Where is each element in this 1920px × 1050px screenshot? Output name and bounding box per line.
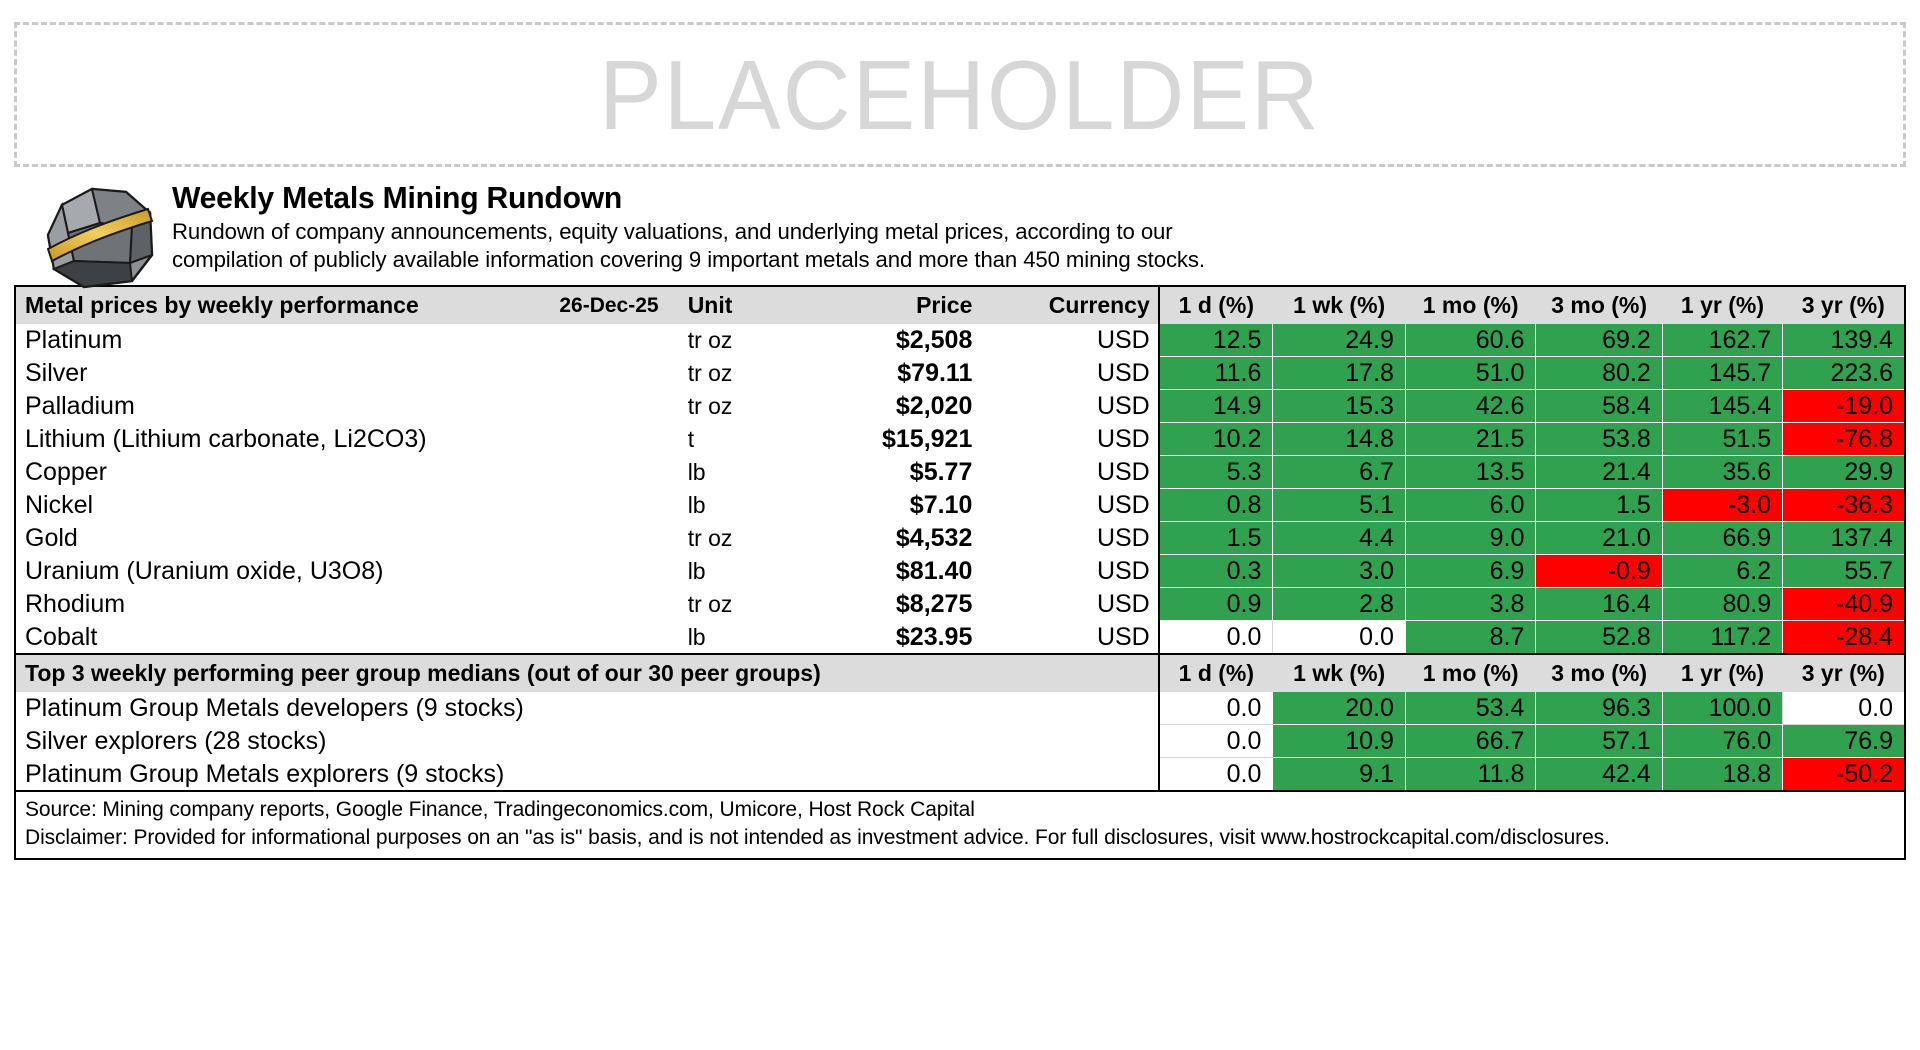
column-header-pct-0: 1 d (%) [1159, 286, 1273, 324]
metal-pct-3: 69.2 [1536, 324, 1662, 357]
metal-currency: USD [980, 456, 1158, 489]
page-subtitle-line-2: compilation of publicly available inform… [172, 246, 1880, 273]
peer-pct-4: 76.0 [1662, 725, 1782, 758]
table-row: Nickellb$7.10USD0.85.16.01.5-3.0-36.3 [15, 489, 1905, 522]
table-row: Copperlb$5.77USD5.36.713.521.435.629.9 [15, 456, 1905, 489]
metal-pct-2: 6.9 [1405, 555, 1535, 588]
spacer-cell [559, 456, 681, 489]
table-row: Palladiumtr oz$2,020USD14.915.342.658.41… [15, 390, 1905, 423]
metal-name: Rhodium [15, 588, 559, 621]
table-row: Platinumtr oz$2,508USD12.524.960.669.216… [15, 324, 1905, 357]
metal-pct-4: 117.2 [1662, 621, 1782, 655]
metal-currency: USD [980, 357, 1158, 390]
metal-pct-1: 3.0 [1273, 555, 1406, 588]
metal-pct-3: -0.9 [1536, 555, 1662, 588]
metal-pct-3: 1.5 [1536, 489, 1662, 522]
peer-pct-3: 57.1 [1536, 725, 1662, 758]
metals-section-header-row: Metal prices by weekly performance26-Dec… [15, 286, 1905, 324]
metal-pct-2: 13.5 [1405, 456, 1535, 489]
peer-pct-0: 0.0 [1159, 758, 1273, 792]
metal-pct-3: 52.8 [1536, 621, 1662, 655]
metal-pct-1: 2.8 [1273, 588, 1406, 621]
peer-section-header-row: Top 3 weekly performing peer group media… [15, 654, 1905, 692]
metal-currency: USD [980, 489, 1158, 522]
metal-price: $7.10 [771, 489, 980, 522]
metal-pct-1: 14.8 [1273, 423, 1406, 456]
table-row: Platinum Group Metals explorers (9 stock… [15, 758, 1905, 792]
logo-wrap [40, 179, 172, 296]
metal-pct-1: 5.1 [1273, 489, 1406, 522]
placeholder-label: PLACEHOLDER [599, 46, 1321, 144]
metal-pct-2: 21.5 [1405, 423, 1535, 456]
column-header-unit: Unit [682, 286, 772, 324]
metal-pct-1: 17.8 [1273, 357, 1406, 390]
metal-pct-0: 5.3 [1159, 456, 1273, 489]
peer-pct-4: 18.8 [1662, 758, 1782, 792]
metal-unit: tr oz [682, 324, 772, 357]
page-subtitle-line-1: Rundown of company announcements, equity… [172, 218, 1880, 245]
footer-source: Source: Mining company reports, Google F… [25, 796, 1904, 824]
column-header-pct-1: 1 wk (%) [1273, 286, 1406, 324]
metal-pct-0: 1.5 [1159, 522, 1273, 555]
spacer-cell [559, 423, 681, 456]
spacer-cell [559, 522, 681, 555]
metal-currency: USD [980, 324, 1158, 357]
title-text-wrap: Weekly Metals Mining Rundown Rundown of … [172, 179, 1906, 273]
metal-pct-5: 139.4 [1783, 324, 1905, 357]
spacer-cell [559, 390, 681, 423]
metal-currency: USD [980, 423, 1158, 456]
peer-pct-0: 0.0 [1159, 692, 1273, 725]
column-header-pct-4: 1 yr (%) [1662, 286, 1782, 324]
report-date: 26-Dec-25 [559, 286, 681, 324]
metal-pct-4: 66.9 [1662, 522, 1782, 555]
metal-name: Copper [15, 456, 559, 489]
table-row: Goldtr oz$4,532USD1.54.49.021.066.9137.4 [15, 522, 1905, 555]
rock-with-gold-vein-icon [40, 183, 158, 291]
report-header: Weekly Metals Mining Rundown Rundown of … [40, 179, 1906, 279]
peer-pct-2: 66.7 [1405, 725, 1535, 758]
metal-pct-4: 80.9 [1662, 588, 1782, 621]
footer-disclaimer: Disclaimer: Provided for informational p… [25, 824, 1904, 852]
table-row: Platinum Group Metals developers (9 stoc… [15, 692, 1905, 725]
metal-name: Palladium [15, 390, 559, 423]
footer-box: Source: Mining company reports, Google F… [14, 792, 1906, 860]
metal-name: Silver [15, 357, 559, 390]
metal-price: $23.95 [771, 621, 980, 655]
metal-price: $2,020 [771, 390, 980, 423]
table-row: Rhodiumtr oz$8,275USD0.92.83.816.480.9-4… [15, 588, 1905, 621]
table-row: Silver explorers (28 stocks)0.010.966.75… [15, 725, 1905, 758]
metal-pct-4: -3.0 [1662, 489, 1782, 522]
metal-pct-5: 55.7 [1783, 555, 1905, 588]
metal-unit: lb [682, 621, 772, 655]
metal-pct-3: 16.4 [1536, 588, 1662, 621]
metal-pct-1: 24.9 [1273, 324, 1406, 357]
metal-pct-5: -40.9 [1783, 588, 1905, 621]
metal-currency: USD [980, 522, 1158, 555]
metal-currency: USD [980, 555, 1158, 588]
metals-section-title: Metal prices by weekly performance [15, 286, 559, 324]
spacer-cell [559, 621, 681, 655]
metal-price: $8,275 [771, 588, 980, 621]
metal-name: Cobalt [15, 621, 559, 655]
metal-price: $4,532 [771, 522, 980, 555]
metal-pct-4: 51.5 [1662, 423, 1782, 456]
peer-column-header-pct-3: 3 mo (%) [1536, 654, 1662, 692]
metal-name: Uranium (Uranium oxide, U3O8) [15, 555, 559, 588]
metal-name: Gold [15, 522, 559, 555]
metal-pct-5: 223.6 [1783, 357, 1905, 390]
column-header-price: Price [771, 286, 980, 324]
metal-pct-4: 145.7 [1662, 357, 1782, 390]
metal-pct-1: 15.3 [1273, 390, 1406, 423]
metal-pct-5: -28.4 [1783, 621, 1905, 655]
column-header-currency: Currency [980, 286, 1158, 324]
table-row: Silvertr oz$79.11USD11.617.851.080.2145.… [15, 357, 1905, 390]
spacer-cell [559, 357, 681, 390]
metal-pct-2: 60.6 [1405, 324, 1535, 357]
metal-pct-0: 10.2 [1159, 423, 1273, 456]
metal-pct-0: 0.8 [1159, 489, 1273, 522]
peer-group-name: Platinum Group Metals explorers (9 stock… [15, 758, 1159, 792]
peer-pct-1: 20.0 [1273, 692, 1406, 725]
peer-pct-5: 0.0 [1783, 692, 1905, 725]
metal-pct-3: 80.2 [1536, 357, 1662, 390]
report-page: PLACEHOLDER [0, 22, 1920, 1050]
peer-pct-3: 96.3 [1536, 692, 1662, 725]
table-row: Uranium (Uranium oxide, U3O8)lb$81.40USD… [15, 555, 1905, 588]
metal-pct-0: 12.5 [1159, 324, 1273, 357]
metal-unit: tr oz [682, 390, 772, 423]
peer-pct-0: 0.0 [1159, 725, 1273, 758]
peer-pct-1: 10.9 [1273, 725, 1406, 758]
metal-pct-3: 53.8 [1536, 423, 1662, 456]
spacer-cell [559, 588, 681, 621]
metal-pct-5: 137.4 [1783, 522, 1905, 555]
metal-pct-1: 6.7 [1273, 456, 1406, 489]
metal-pct-0: 0.9 [1159, 588, 1273, 621]
metal-price: $2,508 [771, 324, 980, 357]
peer-pct-4: 100.0 [1662, 692, 1782, 725]
metal-pct-3: 21.4 [1536, 456, 1662, 489]
table-row: Cobaltlb$23.95USD0.00.08.752.8117.2-28.4 [15, 621, 1905, 655]
spacer-cell [559, 489, 681, 522]
metal-pct-5: -19.0 [1783, 390, 1905, 423]
metal-currency: USD [980, 588, 1158, 621]
peer-pct-3: 42.4 [1536, 758, 1662, 792]
metal-currency: USD [980, 390, 1158, 423]
placeholder-banner: PLACEHOLDER [14, 22, 1906, 167]
column-header-pct-3: 3 mo (%) [1536, 286, 1662, 324]
metal-pct-5: 29.9 [1783, 456, 1905, 489]
column-header-pct-5: 3 yr (%) [1783, 286, 1905, 324]
column-header-pct-2: 1 mo (%) [1405, 286, 1535, 324]
metal-name: Platinum [15, 324, 559, 357]
metal-price: $15,921 [771, 423, 980, 456]
metal-pct-2: 6.0 [1405, 489, 1535, 522]
metal-unit: tr oz [682, 588, 772, 621]
metal-unit: tr oz [682, 522, 772, 555]
metal-price: $79.11 [771, 357, 980, 390]
metal-pct-4: 6.2 [1662, 555, 1782, 588]
metal-unit: tr oz [682, 357, 772, 390]
peer-pct-2: 11.8 [1405, 758, 1535, 792]
metal-pct-3: 21.0 [1536, 522, 1662, 555]
metal-pct-0: 11.6 [1159, 357, 1273, 390]
metal-unit: t [682, 423, 772, 456]
peer-column-header-pct-4: 1 yr (%) [1662, 654, 1782, 692]
peer-column-header-pct-1: 1 wk (%) [1273, 654, 1406, 692]
metal-pct-1: 4.4 [1273, 522, 1406, 555]
metal-pct-3: 58.4 [1536, 390, 1662, 423]
page-title: Weekly Metals Mining Rundown [172, 181, 1854, 214]
metal-pct-5: -76.8 [1783, 423, 1905, 456]
metal-pct-2: 42.6 [1405, 390, 1535, 423]
metals-performance-table: Metal prices by weekly performance26-Dec… [14, 285, 1906, 792]
peer-group-name: Silver explorers (28 stocks) [15, 725, 1159, 758]
metal-unit: lb [682, 555, 772, 588]
table-row: Lithium (Lithium carbonate, Li2CO3)t$15,… [15, 423, 1905, 456]
metal-pct-2: 9.0 [1405, 522, 1535, 555]
metal-pct-4: 162.7 [1662, 324, 1782, 357]
metal-pct-2: 3.8 [1405, 588, 1535, 621]
peer-column-header-pct-0: 1 d (%) [1159, 654, 1273, 692]
peer-pct-5: -50.2 [1783, 758, 1905, 792]
metal-pct-2: 8.7 [1405, 621, 1535, 655]
metal-name: Lithium (Lithium carbonate, Li2CO3) [15, 423, 559, 456]
metal-name: Nickel [15, 489, 559, 522]
metal-pct-4: 35.6 [1662, 456, 1782, 489]
peer-column-header-pct-5: 3 yr (%) [1783, 654, 1905, 692]
peer-pct-2: 53.4 [1405, 692, 1535, 725]
metal-pct-0: 0.0 [1159, 621, 1273, 655]
metal-pct-0: 14.9 [1159, 390, 1273, 423]
metal-unit: lb [682, 489, 772, 522]
spacer-cell [559, 555, 681, 588]
metal-price: $5.77 [771, 456, 980, 489]
peer-group-name: Platinum Group Metals developers (9 stoc… [15, 692, 1159, 725]
peer-pct-1: 9.1 [1273, 758, 1406, 792]
metal-currency: USD [980, 621, 1158, 655]
metal-unit: lb [682, 456, 772, 489]
metal-pct-0: 0.3 [1159, 555, 1273, 588]
metal-pct-2: 51.0 [1405, 357, 1535, 390]
peer-section-title: Top 3 weekly performing peer group media… [15, 654, 1159, 692]
peer-column-header-pct-2: 1 mo (%) [1405, 654, 1535, 692]
metal-price: $81.40 [771, 555, 980, 588]
metal-pct-5: -36.3 [1783, 489, 1905, 522]
peer-pct-5: 76.9 [1783, 725, 1905, 758]
metal-pct-1: 0.0 [1273, 621, 1406, 655]
metal-pct-4: 145.4 [1662, 390, 1782, 423]
spacer-cell [559, 324, 681, 357]
